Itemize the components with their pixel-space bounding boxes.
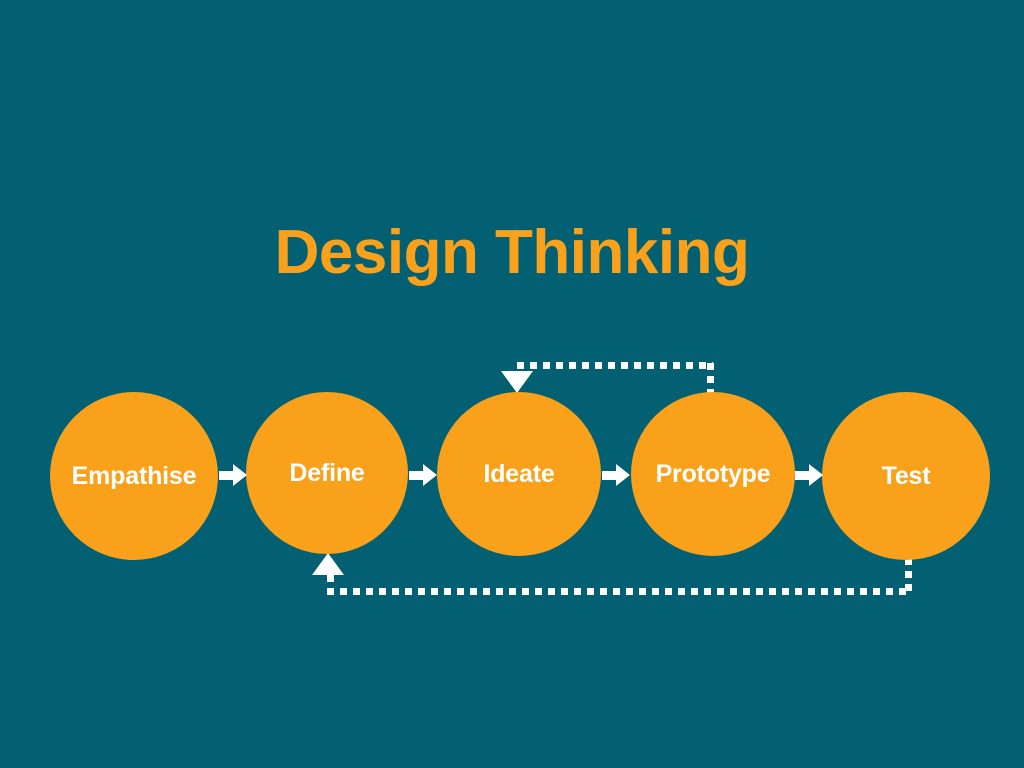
stage-label-empathise: Empathise (72, 464, 197, 489)
feedback-loop-upper-arrowhead-icon (501, 371, 533, 393)
arrow-head-icon (233, 464, 247, 486)
flow-arrow-empathise-to-define (219, 464, 247, 486)
stage-circle-ideate[interactable]: Ideate (437, 392, 601, 556)
arrow-head-icon (809, 464, 823, 486)
flow-arrow-ideate-to-prototype (602, 464, 630, 486)
feedback-loop-lower-arrowhead-icon (312, 553, 344, 575)
stage-label-define: Define (289, 461, 364, 486)
stage-circle-define[interactable]: Define (246, 392, 408, 554)
arrow-head-icon (616, 464, 630, 486)
flow-arrow-prototype-to-test (795, 464, 823, 486)
feedback-loop-lower-stub (327, 575, 334, 588)
stage-circle-test[interactable]: Test (822, 392, 990, 560)
page-title: Design Thinking (0, 215, 1024, 291)
feedback-loop-lower-horizontal (327, 588, 912, 595)
stage-label-prototype: Prototype (656, 462, 771, 487)
stage-label-ideate: Ideate (483, 462, 554, 487)
flow-arrow-define-to-ideate (409, 464, 437, 486)
stage-circle-prototype[interactable]: Prototype (631, 392, 795, 556)
design-thinking-slide: Design Thinking Empathise Define Ideate … (0, 0, 1024, 768)
arrow-head-icon (423, 464, 437, 486)
stage-label-test: Test (882, 464, 931, 489)
stage-circle-empathise[interactable]: Empathise (50, 392, 218, 560)
feedback-loop-upper-horizontal (517, 362, 713, 369)
